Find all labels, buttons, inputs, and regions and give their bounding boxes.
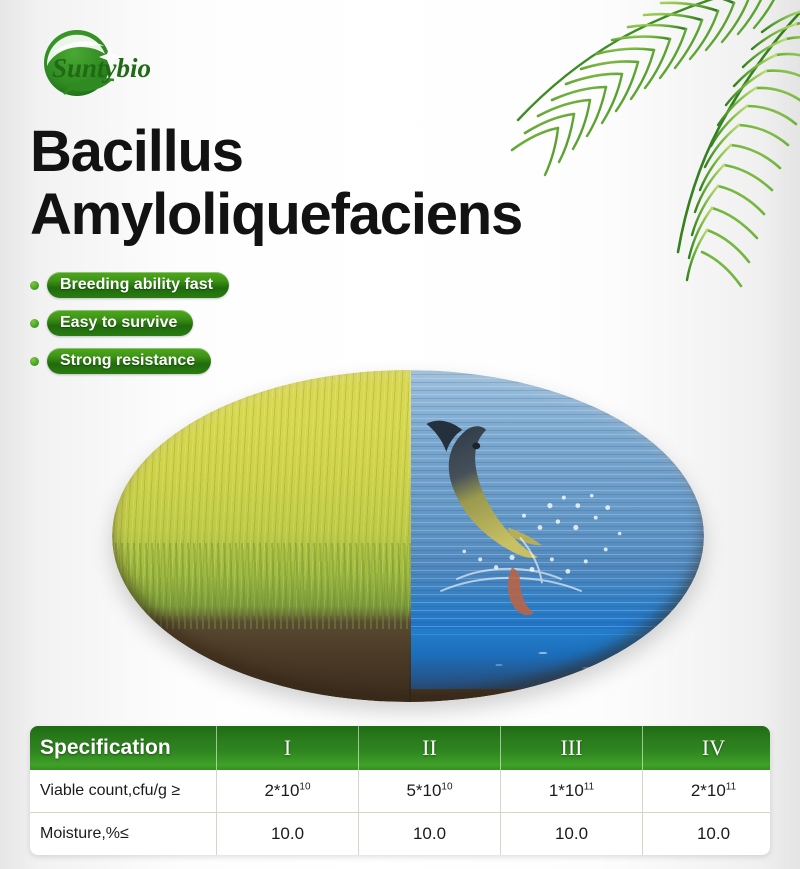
header-grade-4: IV <box>643 726 771 770</box>
feature-item-2: Easy to survive <box>30 310 229 336</box>
cell-moisture-4: 10.0 <box>643 813 771 856</box>
row-label-moisture: Moisture,%≤ <box>30 813 217 856</box>
feature-list: Breeding ability fast Easy to survive St… <box>30 272 229 386</box>
logo-text: Suntybio <box>52 53 151 83</box>
page-title: Bacillus Amyloliquefaciens <box>30 124 690 244</box>
feature-label-1: Breeding ability fast <box>47 272 229 298</box>
bullet-dot-icon <box>30 357 39 366</box>
header-grade-2: II <box>359 726 501 770</box>
cell-viable-count-4: 2*1011 <box>643 770 771 813</box>
table-row: Moisture,%≤ 10.0 10.0 10.0 10.0 <box>30 813 770 856</box>
cell-viable-count-3: 1*1011 <box>501 770 643 813</box>
title-line-1: Bacillus <box>30 119 243 184</box>
hero-image <box>112 370 704 702</box>
cell-base: 2*10 <box>691 781 726 800</box>
header-grade-1: I <box>217 726 359 770</box>
title-line-2: Amyloliquefaciens <box>30 187 690 244</box>
table-header-row: Specification I II III IV <box>30 726 770 770</box>
feature-label-2: Easy to survive <box>47 310 193 336</box>
cell-exponent: 10 <box>299 781 310 792</box>
brand-logo: Suntybio <box>24 22 174 104</box>
cell-exponent: 10 <box>441 781 452 792</box>
header-specification: Specification <box>30 726 217 770</box>
cell-moisture-2: 10.0 <box>359 813 501 856</box>
hero-image-inner <box>112 370 704 702</box>
table-row: Viable count,cfu/g ≥ 2*1010 5*1010 1*101… <box>30 770 770 813</box>
cell-base: 1*10 <box>549 781 584 800</box>
cell-exponent: 11 <box>726 781 736 792</box>
rice-field-scene <box>112 370 411 702</box>
cell-base: 5*10 <box>406 781 441 800</box>
feature-item-1: Breeding ability fast <box>30 272 229 298</box>
cell-exponent: 11 <box>584 781 594 792</box>
row-label-viable-count: Viable count,cfu/g ≥ <box>30 770 217 813</box>
bullet-dot-icon <box>30 281 39 290</box>
bullet-dot-icon <box>30 319 39 328</box>
cell-viable-count-2: 5*1010 <box>359 770 501 813</box>
cell-viable-count-1: 2*1010 <box>217 770 359 813</box>
header-grade-3: III <box>501 726 643 770</box>
cell-moisture-1: 10.0 <box>217 813 359 856</box>
cell-base: 2*10 <box>264 781 299 800</box>
cell-moisture-3: 10.0 <box>501 813 643 856</box>
product-banner: Suntybio Bacillus Amyloliquefaciens Bree… <box>0 0 800 869</box>
jumping-fish-icon <box>396 410 704 649</box>
specification-table: Specification I II III IV Viable count,c… <box>30 726 770 855</box>
